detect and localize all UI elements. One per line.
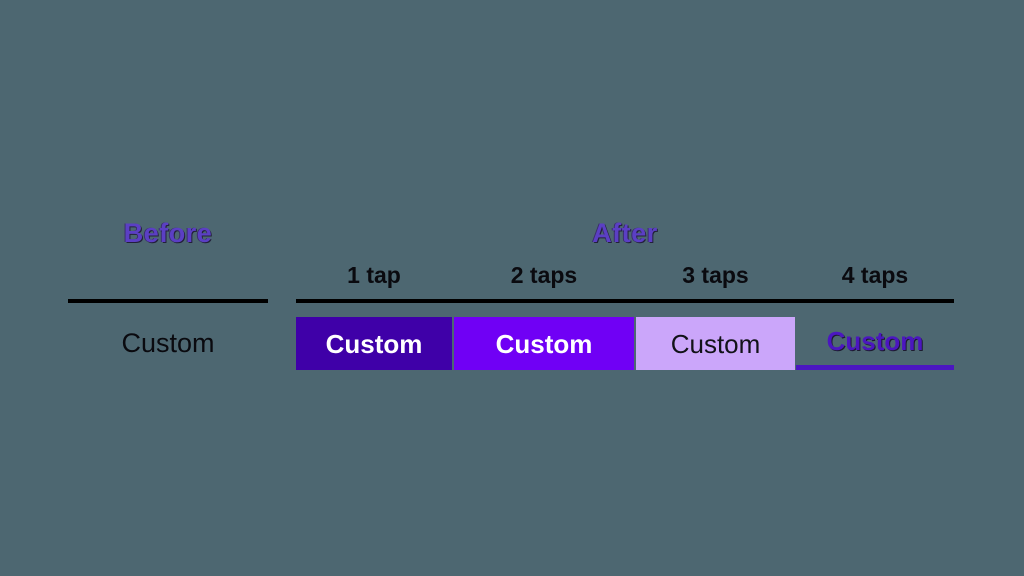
rule-before-column bbox=[68, 299, 268, 303]
comparison-figure: Before After 1 tap 2 taps 3 taps 4 taps … bbox=[0, 0, 1024, 576]
column-header-3-taps: 3 taps bbox=[636, 262, 795, 289]
column-header-4-taps: 4 taps bbox=[796, 262, 954, 289]
group-header-after: After bbox=[296, 218, 954, 249]
rule-after-columns bbox=[296, 299, 954, 303]
cell-label-3-taps: Custom bbox=[671, 331, 761, 357]
cell-label-1-tap: Custom bbox=[326, 331, 423, 357]
column-header-1-tap: 1 tap bbox=[296, 262, 452, 289]
column-header-2-taps: 2 taps bbox=[454, 262, 634, 289]
cell-label-4-taps: Custom bbox=[827, 328, 924, 354]
group-header-before: Before bbox=[68, 218, 268, 249]
cell-label-2-taps: Custom bbox=[496, 331, 593, 357]
cell-4-taps-custom[interactable]: Custom bbox=[796, 317, 954, 370]
cell-before-custom: Custom bbox=[68, 317, 268, 370]
cell-3-taps-custom[interactable]: Custom bbox=[636, 317, 795, 370]
cell-1-tap-custom[interactable]: Custom bbox=[296, 317, 452, 370]
cell-2-taps-custom[interactable]: Custom bbox=[454, 317, 634, 370]
cell-label-before: Custom bbox=[121, 330, 214, 357]
